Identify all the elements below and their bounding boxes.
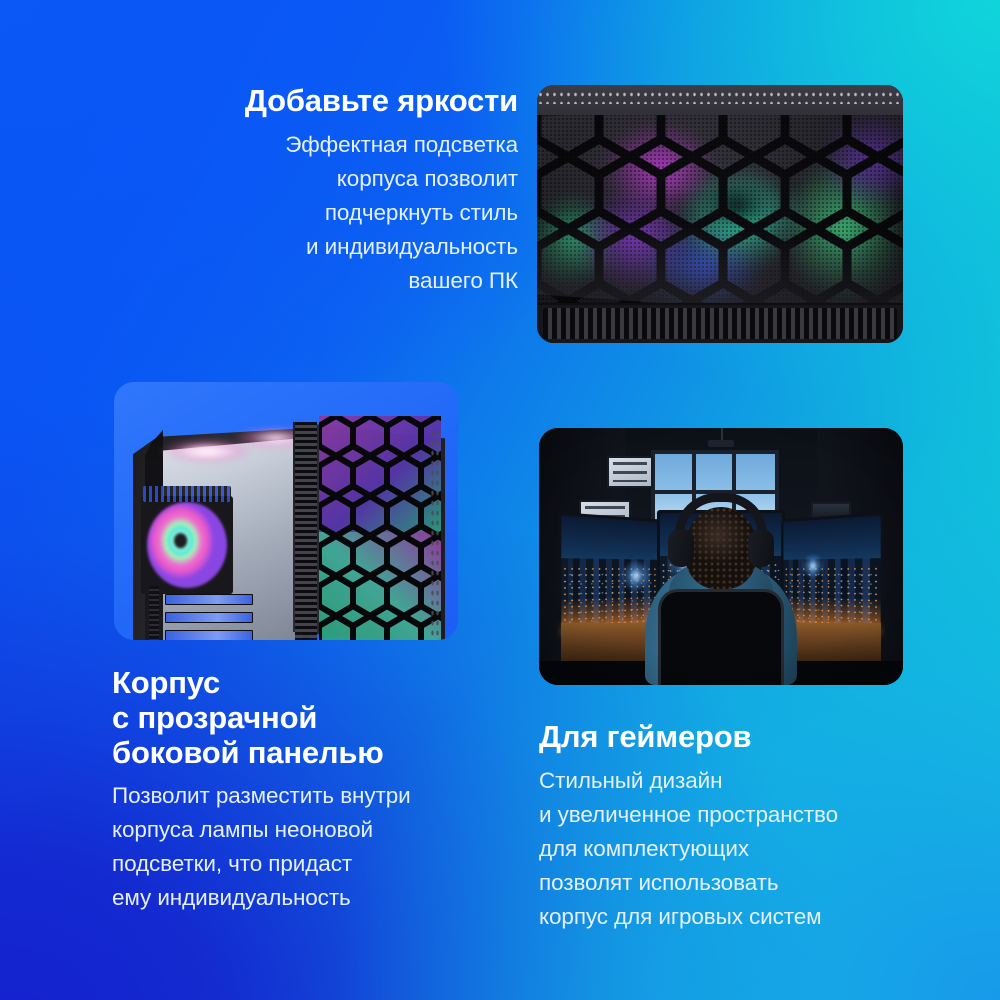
pci-slot: [165, 594, 253, 605]
headline-side-panel: Корпус с прозрачной боковой панелью: [112, 665, 532, 770]
pci-slot-area: [147, 586, 255, 640]
body-line: Эффектная подсветка: [0, 128, 518, 162]
top-bezel-speckles: [537, 90, 903, 104]
body-line: позволят использовать: [539, 866, 969, 900]
headline-line: Корпус: [112, 665, 532, 700]
text-block-brightness: Добавьте яркости Эффектная подсветка кор…: [0, 82, 518, 298]
body-line: подсветки, что придаст: [112, 847, 532, 881]
body-line: и увеличенное пространство: [539, 798, 969, 832]
body-line: ему индивидуальность: [112, 881, 532, 915]
rear-rgb-fan: [147, 502, 227, 588]
body-line: и индивидуальность: [0, 230, 518, 264]
front-panel-speckles: [430, 428, 439, 636]
body-line: для комплектующих: [539, 832, 969, 866]
bottom-vent-grille: [537, 303, 903, 343]
text-block-gamers: Для геймеров Стильный дизайн и увеличенн…: [539, 718, 969, 934]
image-card-pc-case: [114, 382, 458, 640]
pc-case-photo: [133, 410, 445, 640]
panel-top-bezel: [537, 85, 903, 115]
body-side-panel: Позволит разместить внутри корпуса лампы…: [112, 779, 532, 915]
body-line: корпуса лампы неоновой: [112, 813, 532, 847]
pci-rail: [149, 586, 159, 640]
image-card-gamer-setup: [539, 428, 903, 685]
text-block-side-panel: Корпус с прозрачной боковой панелью Позв…: [112, 665, 532, 915]
headline-line: с прозрачной: [112, 700, 532, 735]
pci-slot: [165, 612, 253, 623]
body-line: корпуса позволит: [0, 162, 518, 196]
headline-line: боковой панелью: [112, 735, 532, 770]
pci-slot: [165, 630, 253, 640]
promo-banner: Добавьте яркости Эффектная подсветка кор…: [0, 0, 1000, 1000]
image-card-rgb-mesh: [537, 85, 903, 343]
headline-brightness: Добавьте яркости: [0, 82, 518, 119]
headline-gamers: Для геймеров: [539, 718, 969, 755]
top-fan-ring-left: [167, 444, 247, 460]
photo-vignette: [539, 428, 903, 685]
vent-slots: [543, 308, 897, 339]
front-edge-vent: [295, 422, 317, 640]
front-panel-hex-mesh: [319, 416, 441, 640]
body-line: вашего ПК: [0, 264, 518, 298]
body-line: подчеркнуть стиль: [0, 196, 518, 230]
body-brightness: Эффектная подсветка корпуса позволит под…: [0, 128, 518, 298]
body-gamers: Стильный дизайн и увеличенное пространст…: [539, 764, 969, 934]
body-line: Позволит разместить внутри: [112, 779, 532, 813]
rear-io-grille: [143, 486, 231, 502]
body-line: корпус для игровых систем: [539, 900, 969, 934]
body-line: Стильный дизайн: [539, 764, 969, 798]
